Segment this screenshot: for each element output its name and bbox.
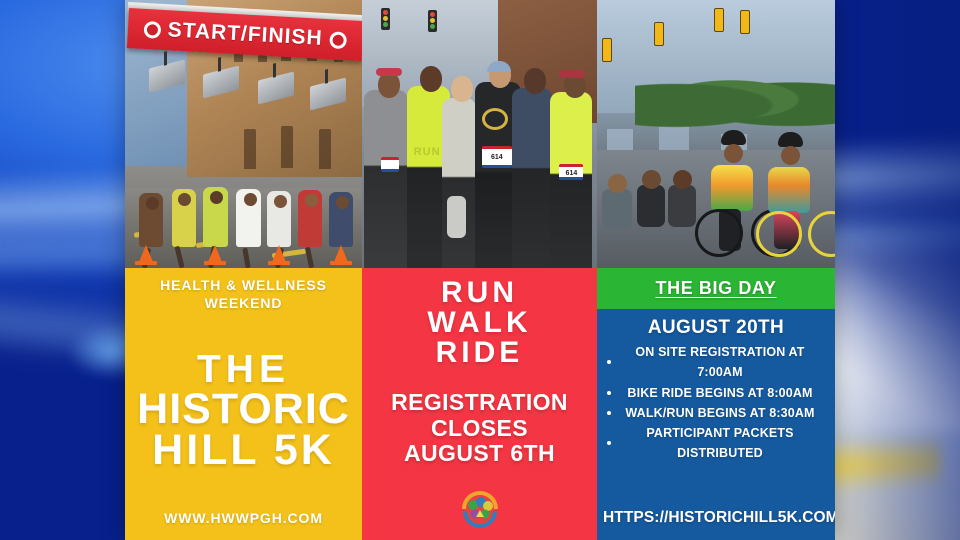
photo3-trees [635,70,835,129]
photo-group-of-runners: RUN 614 614 [362,0,597,268]
photo1-traffic-cone [208,245,222,262]
background-right-shadow [826,0,960,540]
title-line-2: HISTORIC [137,389,350,430]
historic-hill-5k-logo-icon [458,489,502,533]
photo2-race-bib-614: 614 [482,146,512,168]
registration-notice-block: REGISTRATION CLOSES AUGUST 6TH [391,368,568,489]
photo1-traffic-cone [272,245,286,262]
photo3-traffic-signal [714,8,724,32]
registration-line-3: AUGUST 6TH [391,441,568,467]
schedule-item: ON SITE REGISTRATION AT 7:00AM [603,342,829,383]
schedule-item-label: WALK/RUN BEGINS AT 8:30AM [619,403,829,423]
photo2-runner-5 [512,88,552,268]
activity-run: RUN [427,278,531,308]
event-schedule-list: ON SITE REGISTRATION AT 7:00AM BIKE RIDE… [603,342,829,464]
schedule-item-label: PARTICIPANT PACKETS DISTRIBUTED [619,423,829,464]
historic-hill-title: THE HISTORIC HILL 5K [137,351,350,471]
photo2-race-bib [381,157,399,172]
big-day-body: AUGUST 20TH ON SITE REGISTRATION AT 7:00… [597,309,835,540]
photo2-shirt-emblem [482,108,508,130]
schedule-item-label: BIKE RIDE BEGINS AT 8:00AM [619,383,829,403]
photo2-race-bib: 614 [559,164,583,180]
bullet-dot-icon [607,441,611,445]
banner-logo-disc-left [143,20,161,38]
photo1-window [319,129,331,169]
photo2-baseball-cap [487,61,511,72]
title-line-3: HILL 5K [137,430,350,471]
photo3-traffic-signal [740,10,750,34]
photo2-headband [559,70,585,78]
photo1-window [281,126,293,168]
photo-cyclists-group [597,0,835,268]
photo2-traffic-light [381,8,390,30]
photo1-runner-head [336,196,349,209]
banner-text: START/FINISH [167,18,323,51]
photo3-traffic-signal [602,38,612,62]
photo2-shirt-text: RUN [414,146,441,158]
bullet-dot-icon [607,391,611,395]
photo2-headband [376,68,402,76]
photo2-runner-5-head [524,68,546,94]
schedule-item-label: ON SITE REGISTRATION AT 7:00AM [619,342,829,383]
photo2-runner-3 [442,98,476,268]
photo-row: START/FINISH [125,0,835,268]
title-line-1: THE [137,351,350,388]
panel-run-walk-ride: RUN WALK RIDE REGISTRATION CLOSES AUGUST… [362,268,597,540]
photo2-knee-brace [447,196,466,238]
bullet-dot-icon [607,411,611,415]
photo2-runner-1 [364,90,408,268]
schedule-item: BIKE RIDE BEGINS AT 8:00AM [603,383,829,403]
photo1-traffic-cone [139,245,153,262]
activity-ride: RIDE [427,338,531,368]
event-flyer-graphic: START/FINISH [125,0,835,540]
activity-walk: WALK [427,308,531,338]
activities-heading: RUN WALK RIDE [427,278,531,368]
event-date: AUGUST 20TH [603,317,829,339]
health-wellness-eyebrow: HEALTH & WELLNESS WEEKEND [160,277,327,313]
big-day-spacer [603,464,829,510]
panel-the-big-day: THE BIG DAY AUGUST 20TH ON SITE REGISTRA… [597,268,835,540]
photo1-traffic-cone [334,245,348,262]
banner-logo-disc-right [329,31,347,49]
registration-notice: REGISTRATION CLOSES AUGUST 6TH [391,390,568,467]
historic-hill-5k-url[interactable]: HTTPS://HISTORICHILL5K.COM [603,509,829,534]
photo3-traffic-signal [654,22,664,46]
photo2-traffic-light [428,10,437,32]
photo2-runner-2-head [420,66,442,92]
schedule-item: PARTICIPANT PACKETS DISTRIBUTED [603,423,829,464]
big-day-header-bar: THE BIG DAY [597,268,835,309]
registration-line-1: REGISTRATION [391,390,568,416]
panel-row: HEALTH & WELLNESS WEEKEND THE HISTORIC H… [125,268,835,540]
photo2-runner-3-head [451,76,473,102]
eyebrow-line-1: HEALTH & WELLNESS [160,277,327,295]
photo1-window [244,129,256,169]
registration-line-2: CLOSES [391,416,568,442]
historic-hill-title-wrap: THE HISTORIC HILL 5K [131,313,356,510]
photo-start-finish-road-race: START/FINISH [125,0,362,268]
bullet-dot-icon [607,360,611,364]
eyebrow-line-2: WEEKEND [160,295,327,313]
panel-health-wellness: HEALTH & WELLNESS WEEKEND THE HISTORIC H… [125,268,362,540]
big-day-header-text: THE BIG DAY [656,278,777,299]
photo1-runner-head [244,193,257,206]
hww-website-url[interactable]: WWW.HWWPGH.COM [164,510,323,532]
schedule-item: WALK/RUN BEGINS AT 8:30AM [603,403,829,423]
